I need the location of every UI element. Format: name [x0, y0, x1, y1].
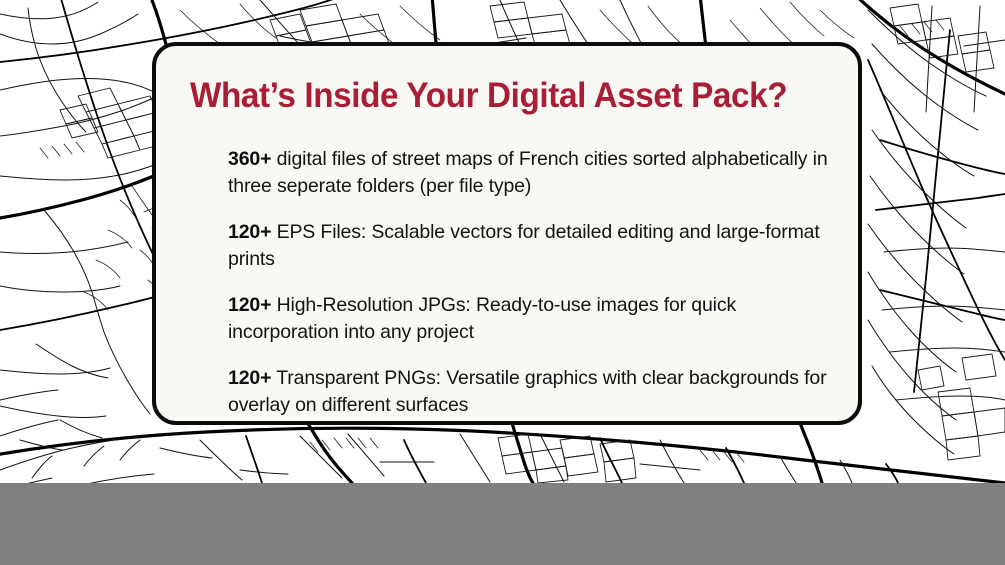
- slide-canvas: What’s Inside Your Digital Asset Pack? 3…: [0, 0, 1005, 565]
- digital-asset-pack-card: What’s Inside Your Digital Asset Pack? 3…: [152, 42, 862, 425]
- feature-description: EPS Files: Scalable vectors for detailed…: [228, 221, 820, 270]
- bottom-gray-bar: [0, 483, 1005, 565]
- list-item: 120+ Transparent PNGs: Versatile graphic…: [228, 365, 828, 419]
- list-item: 120+ High-Resolution JPGs: Ready-to-use …: [228, 292, 828, 346]
- feature-list: 360+ digital files of street maps of Fre…: [228, 146, 828, 419]
- feature-count: 360+: [228, 148, 271, 170]
- feature-description: Transparent PNGs: Versatile graphics wit…: [228, 367, 826, 416]
- feature-count: 120+: [228, 221, 271, 243]
- list-item: 120+ EPS Files: Scalable vectors for det…: [228, 219, 828, 273]
- feature-description: digital files of street maps of French c…: [228, 148, 828, 197]
- list-item: 360+ digital files of street maps of Fre…: [228, 146, 828, 200]
- feature-description: High-Resolution JPGs: Ready-to-use image…: [228, 294, 736, 343]
- page-title: What’s Inside Your Digital Asset Pack?: [190, 76, 787, 116]
- feature-count: 120+: [228, 294, 271, 316]
- feature-count: 120+: [228, 367, 271, 389]
